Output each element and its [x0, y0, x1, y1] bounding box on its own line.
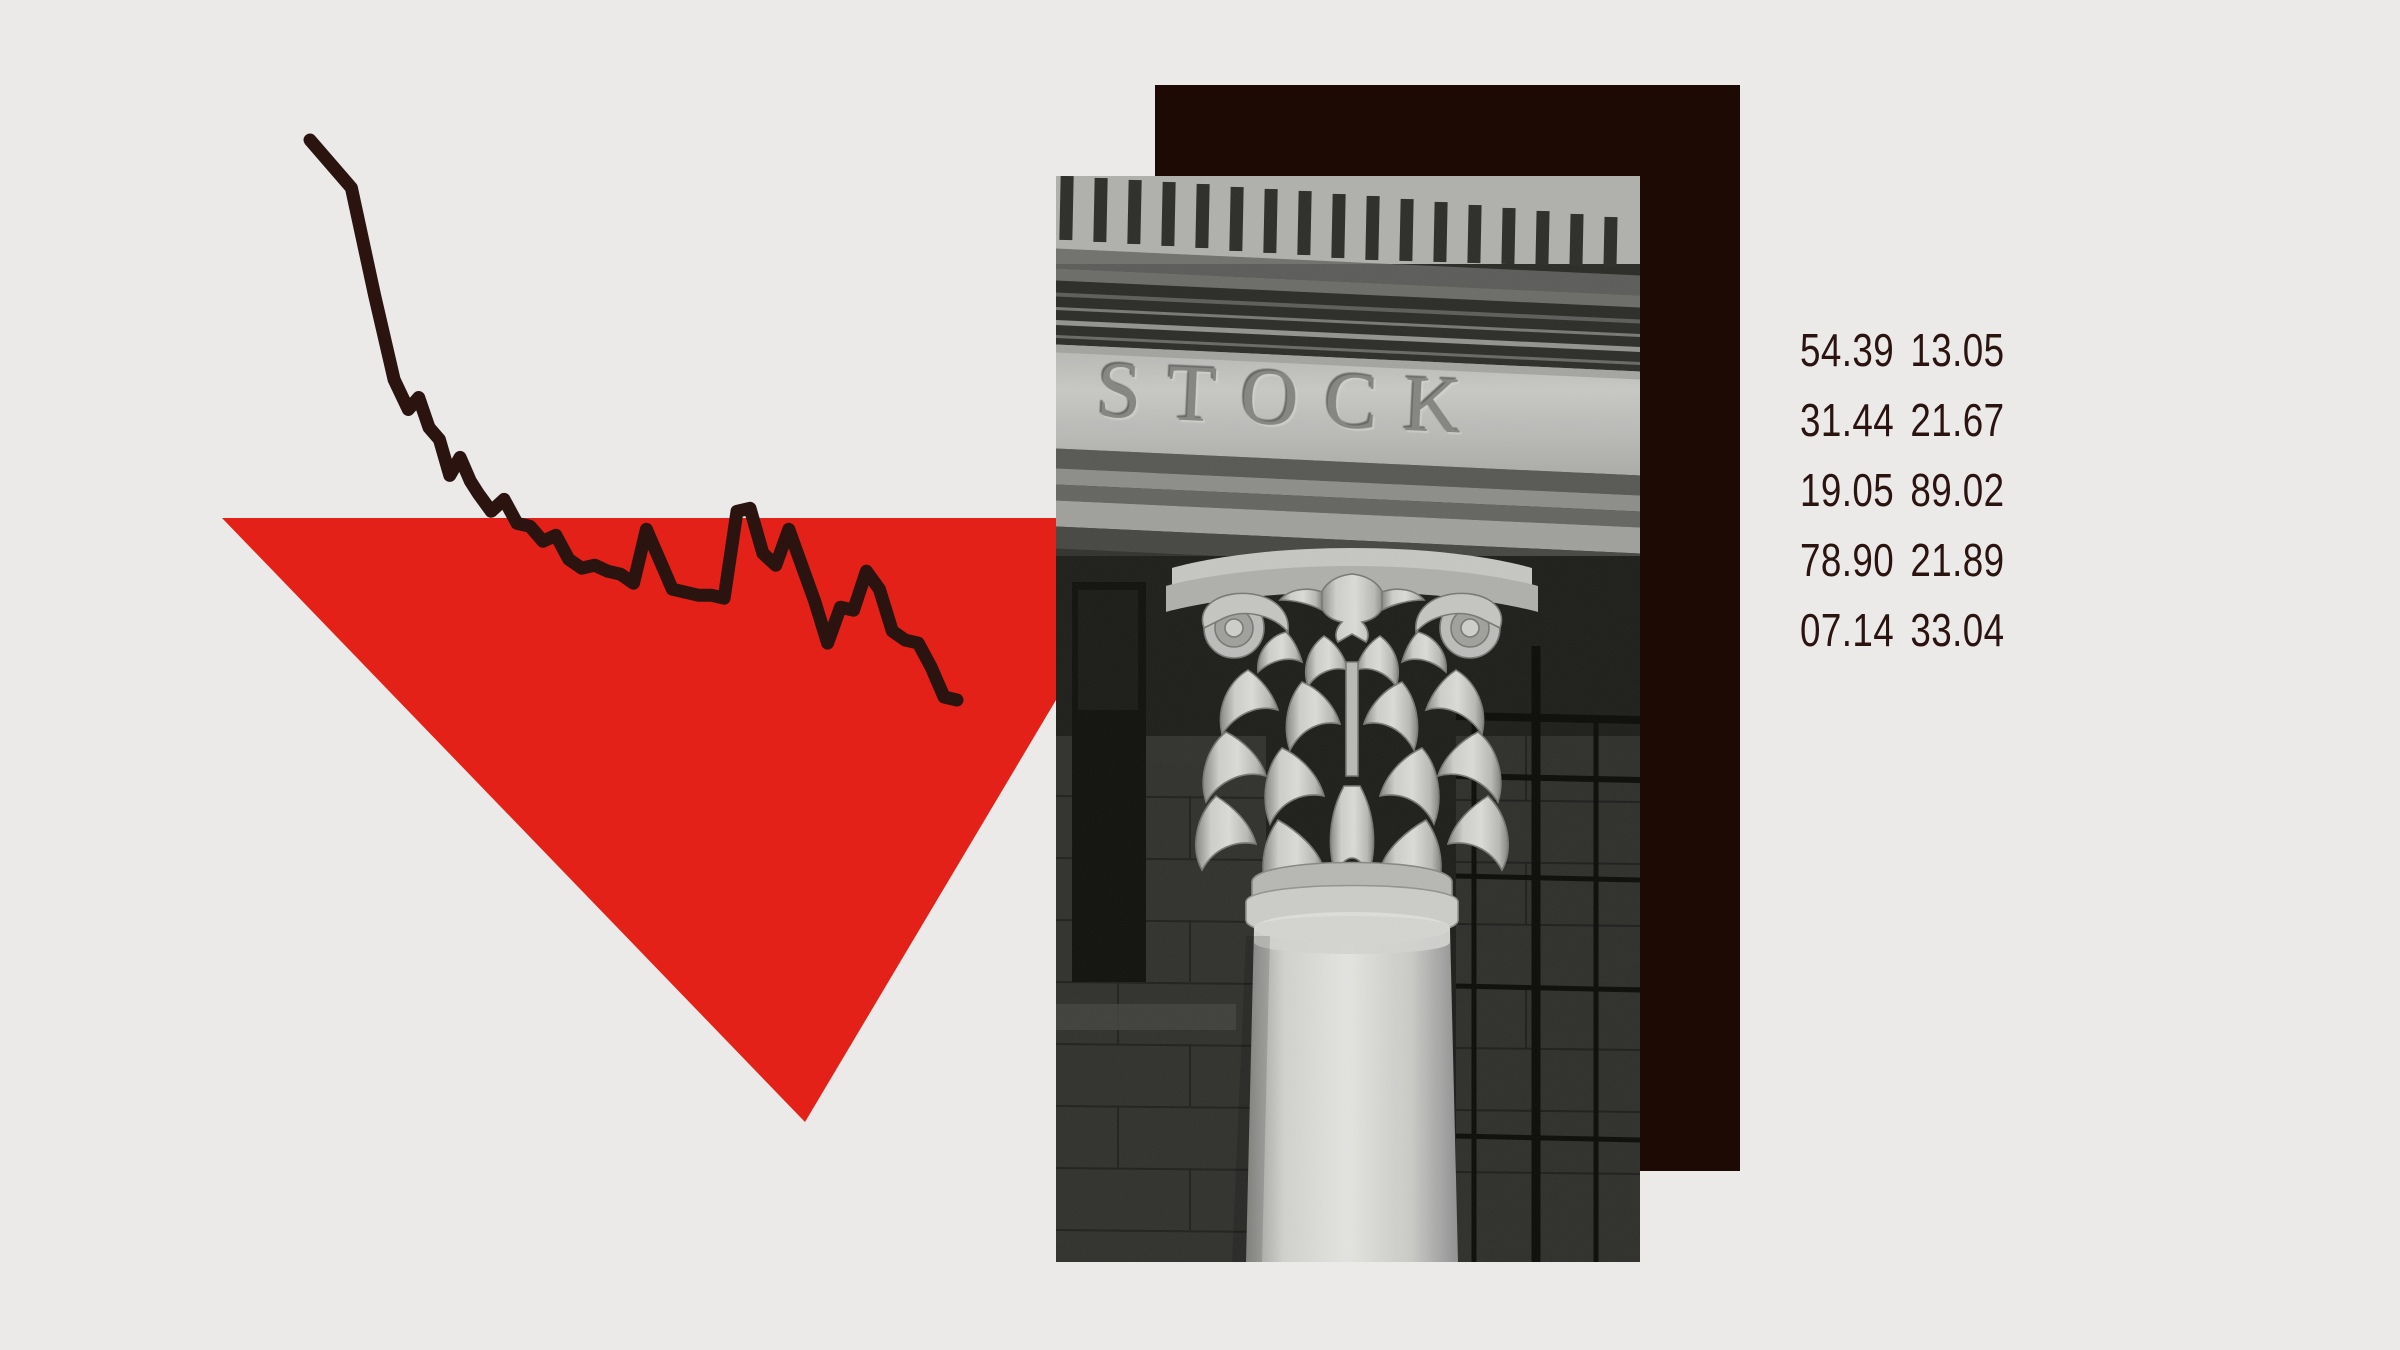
quote-value: 21.67 — [1910, 395, 2004, 445]
collage-canvas: STOCK — [0, 0, 2400, 1350]
quote-value: 54.39 — [1800, 325, 1910, 375]
quote-value: 89.02 — [1910, 465, 2004, 515]
quote-value: 33.04 — [1910, 605, 2004, 655]
quote-value: 21.89 — [1910, 535, 2004, 585]
quote-value: 78.90 — [1800, 535, 1910, 585]
quote-value: 07.14 — [1800, 605, 1910, 655]
stock-quote-numbers: 54.39 13.05 31.44 21.67 19.05 89.02 78.9… — [1800, 325, 2005, 655]
downward-red-triangle — [222, 518, 1056, 1122]
quote-value: 13.05 — [1910, 325, 2004, 375]
stock-price-polyline — [310, 140, 957, 700]
quote-value: 19.05 — [1800, 465, 1910, 515]
quote-value: 31.44 — [1800, 395, 1910, 445]
stock-exchange-photo: STOCK — [1056, 176, 1640, 1262]
